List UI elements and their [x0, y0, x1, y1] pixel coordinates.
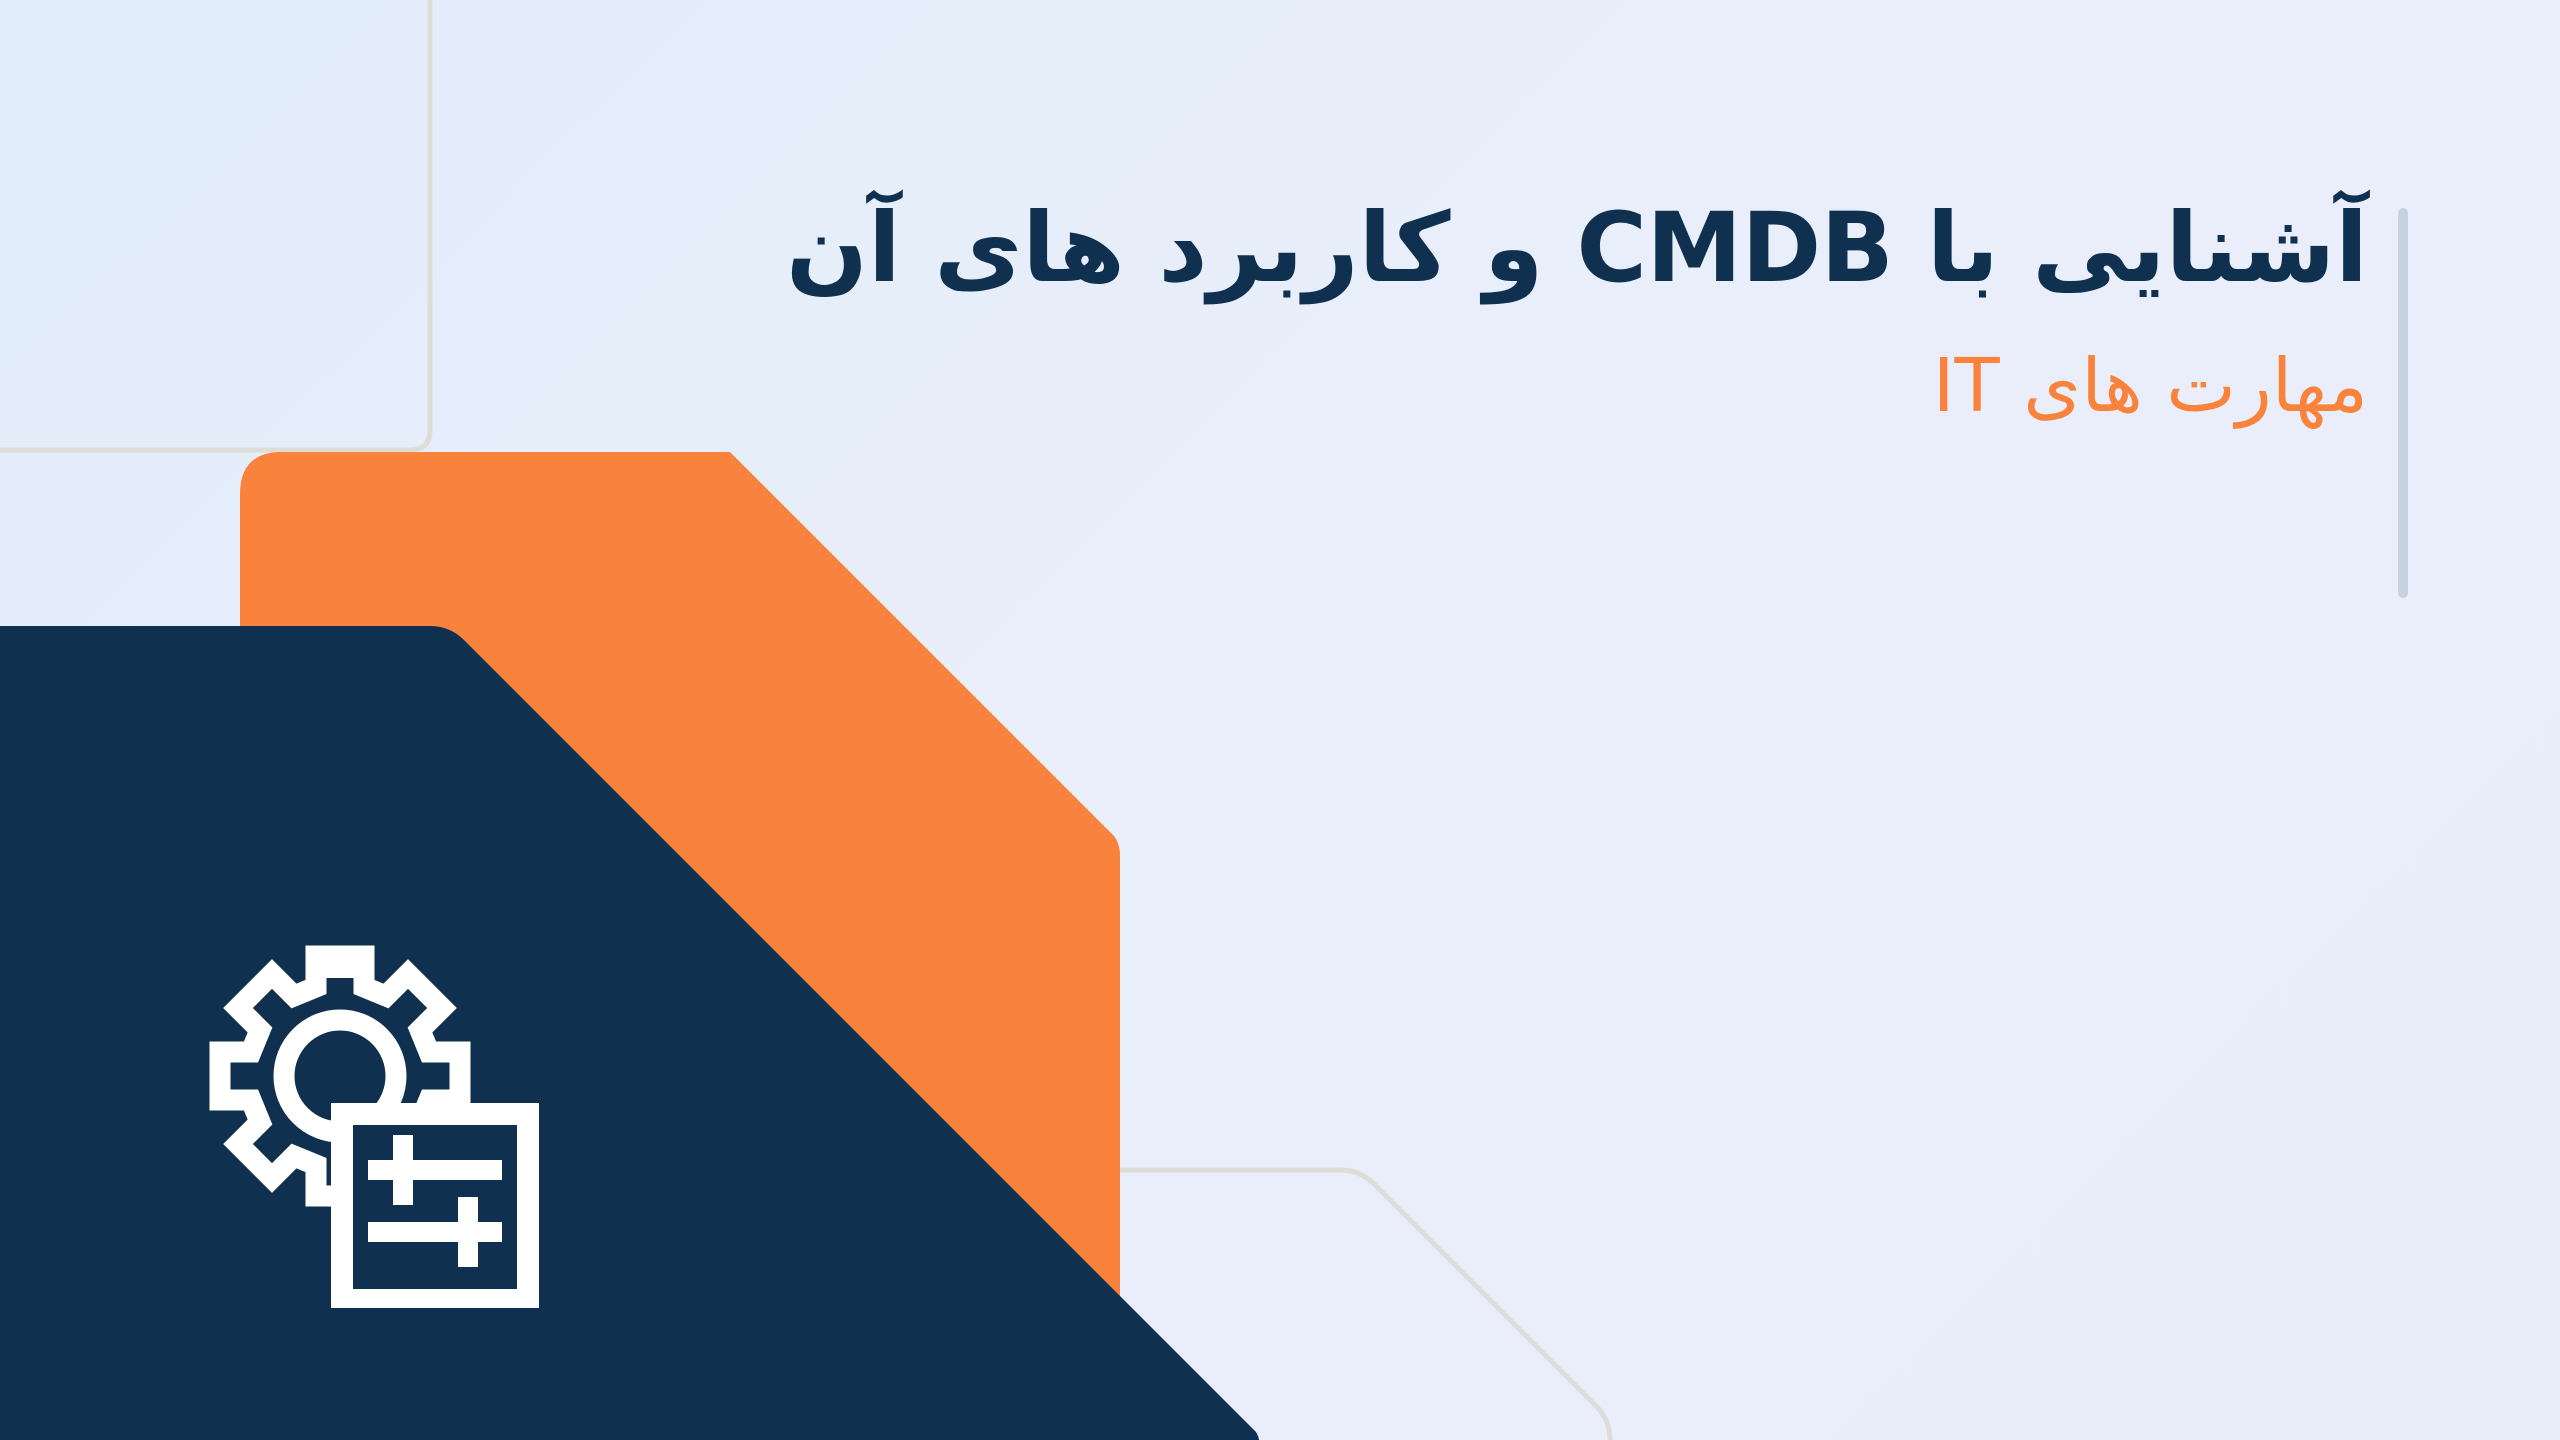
gear-sliders-icon: [190, 938, 566, 1308]
banner-canvas: آشنایی با CMDB و کاربرد های آن مهارت های…: [0, 0, 2560, 1440]
navy-accent-shape: [0, 620, 1260, 1440]
vertical-accent-divider: [2398, 208, 2408, 598]
page-title: آشنایی با CMDB و کاربرد های آن: [608, 180, 2368, 316]
page-subtitle: مهارت های IT: [608, 338, 2368, 434]
decorative-outline-top-left: [0, 0, 440, 470]
banner-text-block: آشنایی با CMDB و کاربرد های آن مهارت های…: [608, 180, 2368, 435]
